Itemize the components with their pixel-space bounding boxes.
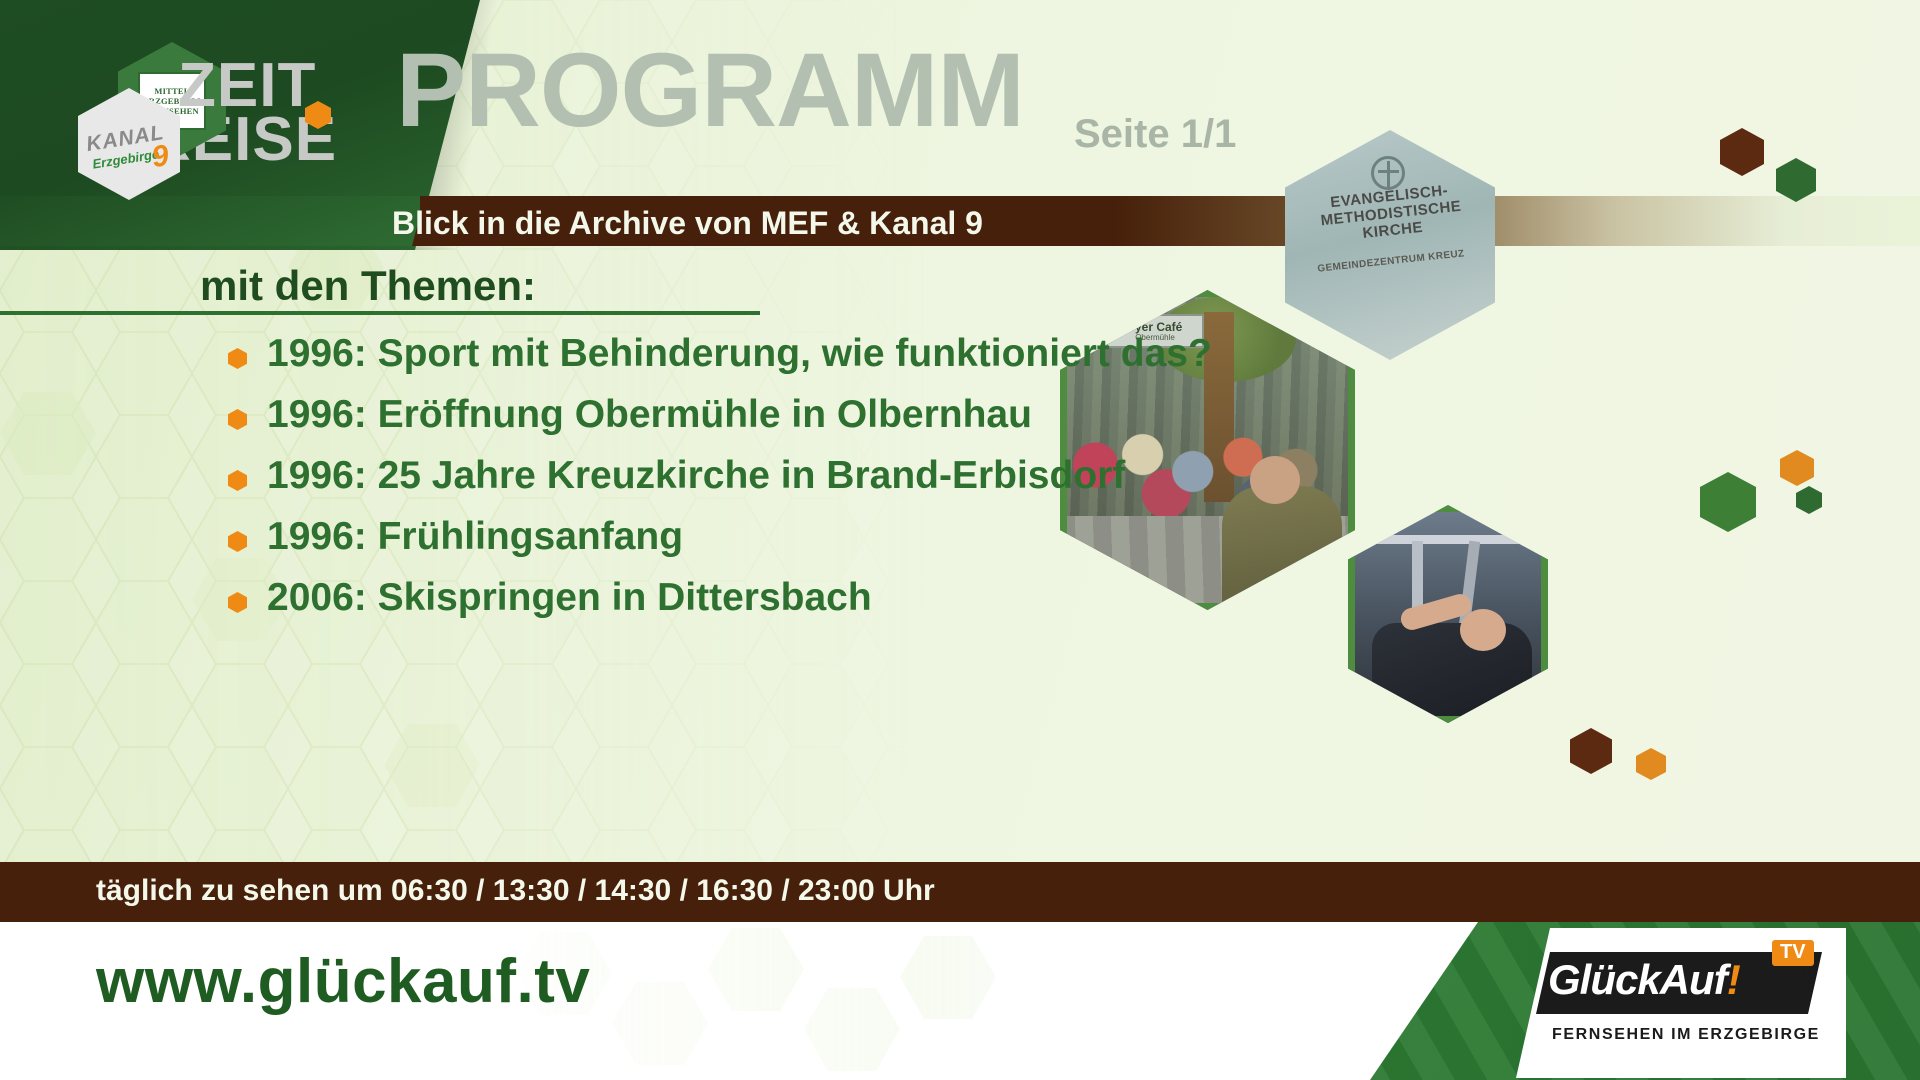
list-item[interactable]: 1996: Sport mit Behinderung, wie funktio… — [228, 332, 1212, 376]
page-title: PROGRAMM — [396, 38, 1024, 143]
glueckauf-tv-logo-wordmark: GlückAuf! — [1548, 956, 1740, 1004]
glueckauf-tagline: FERNSEHEN IM ERZGEBIRGE — [1552, 1026, 1820, 1044]
program-slide: MITTEL ERZGEBIRGS FERNSEHEN KANAL Erzgeb… — [0, 0, 1920, 1080]
subtitle-text: Blick in die Archive von MEF & Kanal 9 — [392, 205, 983, 242]
list-item-label: 1996: Frühlingsanfang — [267, 515, 683, 559]
church-sign-subline: GEMEINDEZENTRUM KREUZ — [1291, 246, 1491, 278]
glueckauf-exclamation-icon: ! — [1727, 956, 1740, 1003]
list-item-label: 1996: Sport mit Behinderung, wie funktio… — [267, 332, 1212, 376]
glueckauf-name-part-2: Auf — [1660, 956, 1727, 1003]
list-item[interactable]: 1996: Frühlingsanfang — [228, 515, 1212, 559]
church-sign-text: EVANGELISCH- METHODISTISCHE KIRCHE — [1289, 178, 1493, 250]
subtitle-bar-green-cap — [0, 196, 420, 246]
registered-trademark-icon: ® — [1802, 964, 1812, 979]
hexagon-bullet-icon — [228, 348, 247, 369]
hexagon-bullet-icon — [228, 592, 247, 613]
show-title-line-1: ZEIT — [178, 58, 316, 114]
bottom-honeycomb-pattern — [480, 922, 1280, 1080]
hexagon-bullet-icon — [228, 531, 247, 552]
glueckauf-name-part-1: Glück — [1548, 956, 1660, 1003]
list-item[interactable]: 2006: Skispringen in Dittersbach — [228, 576, 1212, 620]
broadcast-times-text: täglich zu sehen um 06:30 / 13:30 / 14:3… — [96, 874, 935, 908]
topics-heading: mit den Themen: — [200, 262, 536, 310]
glueckauf-tv-badge: TV — [1772, 940, 1814, 966]
page-indicator: Seite 1/1 — [1074, 112, 1236, 157]
hexagon-bullet-icon — [228, 470, 247, 491]
list-item[interactable]: 1996: 25 Jahre Kreuzkirche in Brand-Erbi… — [228, 454, 1212, 498]
hexagon-bullet-icon — [228, 409, 247, 430]
list-item[interactable]: 1996: Eröffnung Obermühle in Olbernhau — [228, 393, 1212, 437]
list-item-label: 1996: 25 Jahre Kreuzkirche in Brand-Erbi… — [267, 454, 1125, 498]
list-item-label: 1996: Eröffnung Obermühle in Olbernhau — [267, 393, 1032, 437]
list-item-label: 2006: Skispringen in Dittersbach — [267, 576, 872, 620]
topics-list: 1996: Sport mit Behinderung, wie funktio… — [228, 332, 1212, 637]
church-cross-icon — [1371, 156, 1405, 190]
topics-heading-underline — [0, 311, 760, 315]
website-url[interactable]: www.glückauf.tv — [96, 946, 590, 1017]
